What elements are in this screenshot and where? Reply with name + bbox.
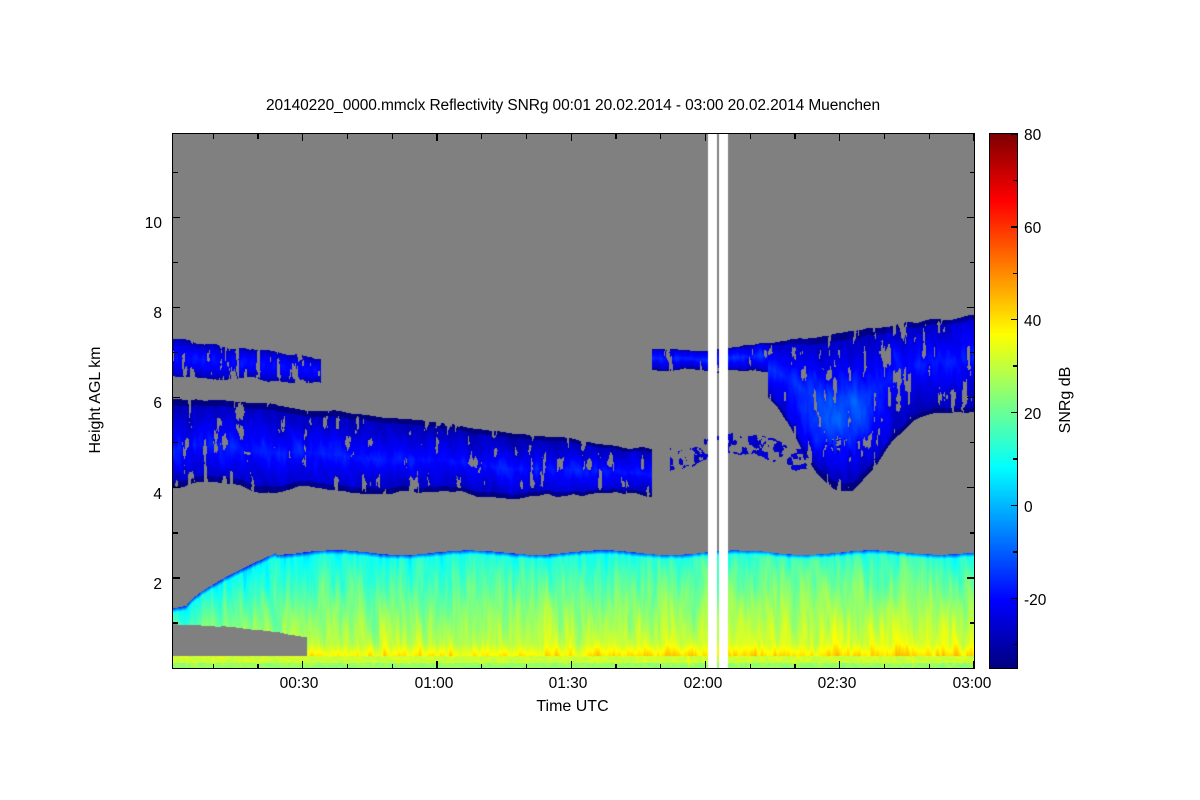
colorbar-tick-label-0: 0: [1024, 500, 1033, 516]
x-minor-tick: [392, 664, 393, 669]
colorbar-minor-tick: [1013, 458, 1017, 459]
x-major-tick: [436, 661, 437, 668]
y-minor-tick: [970, 172, 975, 173]
y-minor-tick: [173, 442, 178, 443]
x-minor-tick: [929, 134, 930, 139]
page-title: 20140220_0000.mmclx Reflectivity SNRg 00…: [172, 97, 974, 115]
x-axis-title: Time UTC: [172, 698, 973, 716]
colorbar-tick-label-40: 40: [1024, 314, 1041, 330]
x-minor-tick: [213, 664, 214, 669]
y-major-tick: [173, 577, 180, 578]
colorbar-major-tick: [1011, 133, 1017, 134]
y-major-tick: [173, 307, 180, 308]
y-minor-tick: [173, 172, 178, 173]
x-minor-tick: [347, 134, 348, 139]
y-minor-tick: [173, 622, 178, 623]
radar-plot-axes[interactable]: [172, 133, 975, 669]
colorbar-gradient: [990, 134, 1017, 668]
colorbar-major-tick: [1011, 412, 1017, 413]
xtick-label-0130: 01:30: [523, 676, 613, 692]
x-minor-tick: [884, 134, 885, 139]
x-minor-tick: [392, 134, 393, 139]
colorbar-major-tick: [1011, 505, 1017, 506]
y-major-tick: [173, 397, 180, 398]
colorbar-major-tick: [1011, 226, 1017, 227]
colorbar-minor-tick: [1013, 273, 1017, 274]
x-major-tick: [973, 134, 974, 141]
colorbar-tick-label-minus20: -20: [1024, 593, 1046, 609]
x-major-tick: [839, 661, 840, 668]
y-major-tick: [967, 307, 974, 308]
x-minor-tick: [660, 134, 661, 139]
colorbar-minor-tick: [1013, 551, 1017, 552]
xtick-label-0200: 02:00: [658, 676, 748, 692]
y-minor-tick: [970, 622, 975, 623]
y-major-tick: [173, 217, 180, 218]
ytick-label-10: 10: [122, 216, 162, 232]
x-minor-tick: [884, 664, 885, 669]
y-minor-tick: [970, 442, 975, 443]
x-minor-tick: [794, 664, 795, 669]
x-minor-tick: [257, 134, 258, 139]
colorbar-minor-tick: [1013, 644, 1017, 645]
y-major-tick: [967, 577, 974, 578]
y-major-tick: [967, 487, 974, 488]
y-major-tick: [967, 397, 974, 398]
x-minor-tick: [526, 134, 527, 139]
x-minor-tick: [750, 664, 751, 669]
ytick-label-4: 4: [122, 487, 162, 503]
colorbar-minor-tick: [1013, 365, 1017, 366]
x-minor-tick: [481, 664, 482, 669]
x-minor-tick: [660, 664, 661, 669]
figure-canvas: 20140220_0000.mmclx Reflectivity SNRg 00…: [0, 0, 1200, 800]
y-axis-title: Height AGL km: [87, 346, 105, 453]
colorbar-tick-label-60: 60: [1024, 221, 1041, 237]
ytick-label-8: 8: [122, 306, 162, 322]
y-minor-tick: [173, 262, 178, 263]
y-minor-tick: [970, 352, 975, 353]
x-minor-tick: [526, 664, 527, 669]
y-major-tick: [173, 487, 180, 488]
x-major-tick: [571, 661, 572, 668]
x-major-tick: [973, 661, 974, 668]
y-minor-tick: [173, 352, 178, 353]
x-major-tick: [705, 134, 706, 141]
colorbar-major-tick: [1011, 598, 1017, 599]
colorbar-major-tick: [1011, 319, 1017, 320]
colorbar-title: SNRg dB: [1057, 367, 1075, 434]
x-minor-tick: [794, 134, 795, 139]
reflectivity-heatmap: [173, 134, 974, 668]
y-minor-tick: [173, 532, 178, 533]
y-major-tick: [967, 217, 974, 218]
colorbar-tick-label-20: 20: [1024, 407, 1041, 423]
xtick-label-0030: 00:30: [254, 676, 344, 692]
y-minor-tick: [970, 532, 975, 533]
ytick-label-2: 2: [122, 577, 162, 593]
x-major-tick: [839, 134, 840, 141]
x-major-tick: [302, 134, 303, 141]
x-minor-tick: [615, 134, 616, 139]
x-minor-tick: [347, 664, 348, 669]
x-major-tick: [436, 134, 437, 141]
x-major-tick: [705, 661, 706, 668]
x-minor-tick: [615, 664, 616, 669]
xtick-label-0100: 01:00: [389, 676, 479, 692]
ytick-label-6: 6: [122, 396, 162, 412]
x-major-tick: [571, 134, 572, 141]
x-major-tick: [302, 661, 303, 668]
x-minor-tick: [481, 134, 482, 139]
colorbar-minor-tick: [1013, 180, 1017, 181]
colorbar-tick-label-80: 80: [1024, 128, 1041, 144]
x-minor-tick: [213, 134, 214, 139]
y-minor-tick: [970, 262, 975, 263]
x-minor-tick: [750, 134, 751, 139]
colorbar[interactable]: [989, 133, 1018, 669]
xtick-label-0300: 03:00: [927, 676, 1017, 692]
x-minor-tick: [929, 664, 930, 669]
x-minor-tick: [257, 664, 258, 669]
xtick-label-0230: 02:30: [792, 676, 882, 692]
